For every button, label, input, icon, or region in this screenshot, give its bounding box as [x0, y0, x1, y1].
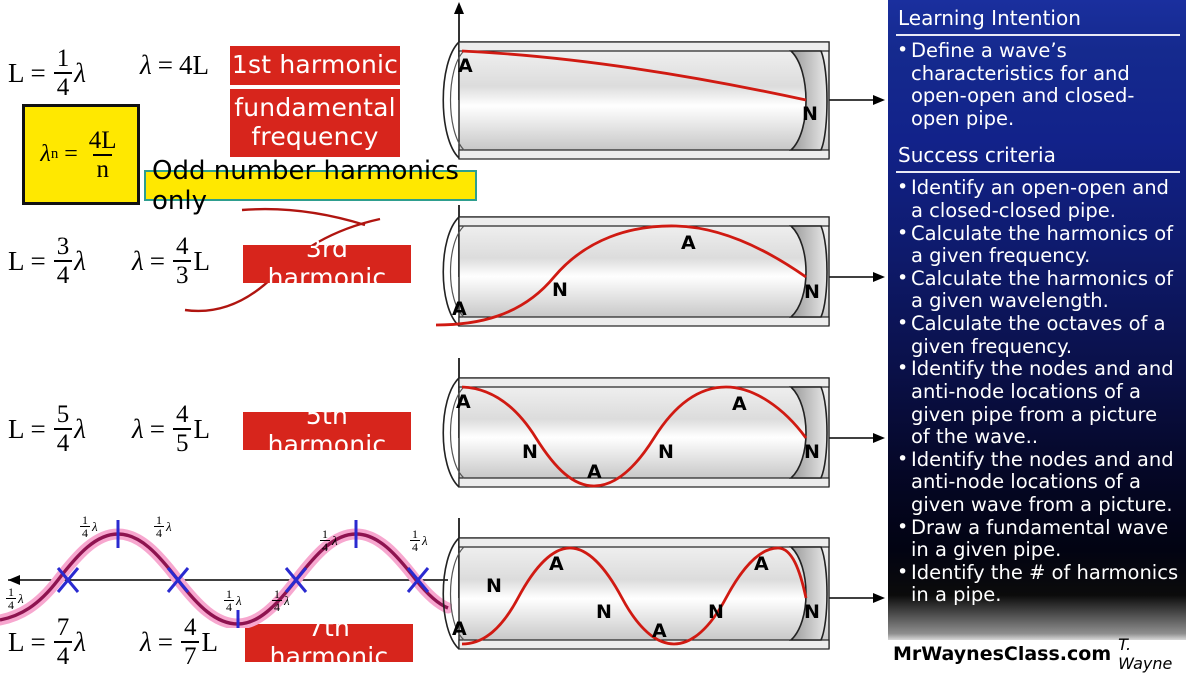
success-criteria-list: Identify an open-open and a closed-close… — [896, 177, 1180, 607]
lambda-symbol: λ — [18, 591, 24, 607]
label-text-line2: frequency — [251, 123, 378, 152]
formula-L: L — [193, 414, 210, 445]
wavelength-formula: λn = 4L n — [40, 128, 121, 182]
fraction-numerator: 1 — [272, 588, 282, 600]
fraction-numerator: 1 — [224, 588, 234, 600]
formula-row3-left: L = 5 4 λ — [8, 402, 86, 456]
lambda-symbol: λ — [140, 627, 152, 658]
list-item: Identify the nodes and and anti-node loc… — [896, 358, 1180, 448]
fraction-numerator: 4L — [86, 128, 120, 154]
formula-equals: = — [31, 414, 46, 445]
lambda-symbol: λ — [284, 593, 290, 609]
formula-row2-left: L = 3 4 λ — [8, 234, 86, 288]
fraction-denominator: 4 — [6, 598, 16, 611]
formula-rhs: 4L — [179, 50, 209, 81]
fraction-denominator: 4 — [410, 540, 420, 553]
list-item: Define a wave’s characteristics for and … — [896, 40, 1180, 130]
fraction-denominator: 5 — [173, 428, 192, 456]
fraction-numerator: 1 — [320, 528, 330, 540]
fraction-denominator: 4 — [320, 540, 330, 553]
label-text: 1st harmonic — [232, 51, 398, 80]
list-item: Calculate the harmonics of a given frequ… — [896, 223, 1180, 268]
fraction-denominator: 4 — [54, 641, 73, 669]
divider — [896, 171, 1180, 173]
fraction-1-4: 1 4 — [272, 588, 282, 613]
lambda-symbol: λ — [74, 627, 86, 658]
fraction-numerator: 3 — [54, 234, 73, 260]
learning-intention-list: Define a wave’s characteristics for and … — [896, 40, 1180, 130]
lambda-symbol: λ — [132, 246, 144, 277]
lambda-symbol: λ — [140, 50, 152, 81]
slide-canvas: L = 1 4 λ λ = 4L λn = 4L n 1st harmonic … — [0, 0, 1186, 667]
label-fundamental-frequency: fundamental frequency — [230, 89, 400, 157]
lambda-symbol: λ — [40, 141, 50, 168]
formula-row3-right: λ = 4 5 L — [132, 402, 210, 456]
list-item: Identify the nodes and and anti-node loc… — [896, 449, 1180, 517]
fraction-1-4: 1 4 — [6, 586, 16, 611]
odd-harmonics-banner: Odd number harmonics only — [144, 170, 477, 201]
fraction-1-4: 1 4 — [80, 514, 90, 539]
lambda-symbol: λ — [332, 533, 338, 549]
quarter-label: 1 4 λ — [222, 588, 242, 613]
quarter-label: 1 4 λ — [270, 588, 290, 613]
pipe-svg — [436, 0, 886, 175]
quarter-label: 1 4 λ — [152, 514, 172, 539]
formula-equals: = — [158, 50, 173, 81]
fraction-numerator: 1 — [80, 514, 90, 526]
objectives-sidebar: Learning Intention Define a wave’s chara… — [888, 0, 1186, 640]
label-7th-harmonic: 7th harmonic — [245, 624, 413, 662]
fraction-1-4: 1 4 — [320, 528, 330, 553]
fraction-5-4: 5 4 — [54, 402, 73, 456]
fraction-numerator: 1 — [54, 46, 73, 72]
fraction-denominator: 4 — [80, 526, 90, 539]
fraction-1-4: 1 4 — [154, 514, 164, 539]
formula-equals: = — [64, 141, 78, 168]
quarter-label: 1 4 λ — [318, 528, 338, 553]
formula-equals: = — [158, 627, 173, 658]
pipe-svg — [436, 358, 886, 493]
fraction-denominator: n — [93, 154, 112, 182]
pipe-svg — [436, 205, 886, 330]
label-1st-harmonic: 1st harmonic — [230, 46, 400, 85]
fraction-1-4: 1 4 — [54, 46, 73, 100]
list-item: Calculate the harmonics of a given wavel… — [896, 268, 1180, 313]
fraction-denominator: 4 — [54, 72, 73, 100]
list-item: Calculate the octaves of a given frequen… — [896, 313, 1180, 358]
quarter-label: 1 4 λ — [408, 528, 428, 553]
lambda-symbol: λ — [74, 246, 86, 277]
third-harmonic-pipe: A N A N — [436, 205, 886, 330]
formula-equals: = — [150, 414, 165, 445]
lambda-symbol: λ — [132, 414, 144, 445]
fraction-denominator: 4 — [54, 428, 73, 456]
first-harmonic-pipe: A N — [436, 0, 886, 175]
formula-L: L — [8, 58, 25, 89]
fraction-3-4: 3 4 — [54, 234, 73, 288]
formula-row1-right: λ = 4L — [140, 50, 209, 81]
divider — [896, 34, 1180, 36]
lambda-symbol: λ — [74, 414, 86, 445]
formula-equals: = — [31, 246, 46, 277]
fraction-numerator: 4 — [173, 402, 192, 428]
learning-intention-header: Learning Intention — [896, 4, 1180, 33]
quarter-label: 1 4 λ — [4, 586, 24, 611]
fraction-1-4: 1 4 — [224, 588, 234, 613]
lambda-symbol: λ — [92, 519, 98, 535]
formula-L: L — [8, 414, 25, 445]
formula-equals: = — [150, 246, 165, 277]
fraction-numerator: 1 — [154, 514, 164, 526]
fraction-denominator: 4 — [224, 600, 234, 613]
list-item: Draw a fundamental wave in a given pipe. — [896, 517, 1180, 562]
spacer — [896, 130, 1180, 141]
wavelength-formula-box: λn = 4L n — [22, 104, 140, 205]
fraction-1-4: 1 4 — [410, 528, 420, 553]
pipe-svg — [436, 518, 886, 658]
lambda-symbol: λ — [74, 58, 86, 89]
fraction-denominator: 7 — [181, 641, 200, 669]
fifth-harmonic-pipe: A N A N A N — [436, 358, 886, 493]
list-item: Identify an open-open and a closed-close… — [896, 177, 1180, 222]
fraction-denominator: 4 — [54, 260, 73, 288]
formula-L: L — [201, 627, 218, 658]
lambda-symbol: λ — [236, 593, 242, 609]
lambda-subscript: n — [51, 146, 58, 163]
lambda-symbol: λ — [166, 519, 172, 535]
fraction-numerator: 5 — [54, 402, 73, 428]
fraction-denominator: 4 — [272, 600, 282, 613]
formula-L: L — [8, 246, 25, 277]
label-text: 5th harmonic — [243, 402, 411, 460]
fraction-denominator: 4 — [154, 526, 164, 539]
slide-footer: MrWaynesClass.com T. Wayne 18 — [888, 640, 1186, 667]
fraction-4-5: 4 5 — [173, 402, 192, 456]
label-text-line1: fundamental — [234, 94, 396, 123]
label-5th-harmonic: 5th harmonic — [243, 412, 411, 450]
list-item: Identify the # of harmonics in a pipe. — [896, 562, 1180, 607]
label-text: 3rd harmonic — [243, 235, 411, 293]
formula-equals: = — [31, 58, 46, 89]
fraction-numerator: 1 — [410, 528, 420, 540]
formula-row1-left: L = 1 4 λ — [8, 46, 86, 100]
formula-equals: = — [31, 627, 46, 658]
quarter-label: 1 4 λ — [78, 514, 98, 539]
label-3rd-harmonic: 3rd harmonic — [243, 245, 411, 283]
fraction-numerator: 1 — [6, 586, 16, 598]
success-criteria-header: Success criteria — [896, 141, 1180, 170]
seventh-harmonic-pipe: A N A N A N A N — [436, 518, 886, 658]
formula-L: L — [8, 627, 25, 658]
fraction-4L-n: 4L n — [86, 128, 120, 182]
site-brand: MrWaynesClass.com — [893, 643, 1111, 665]
lambda-symbol: λ — [422, 533, 428, 549]
